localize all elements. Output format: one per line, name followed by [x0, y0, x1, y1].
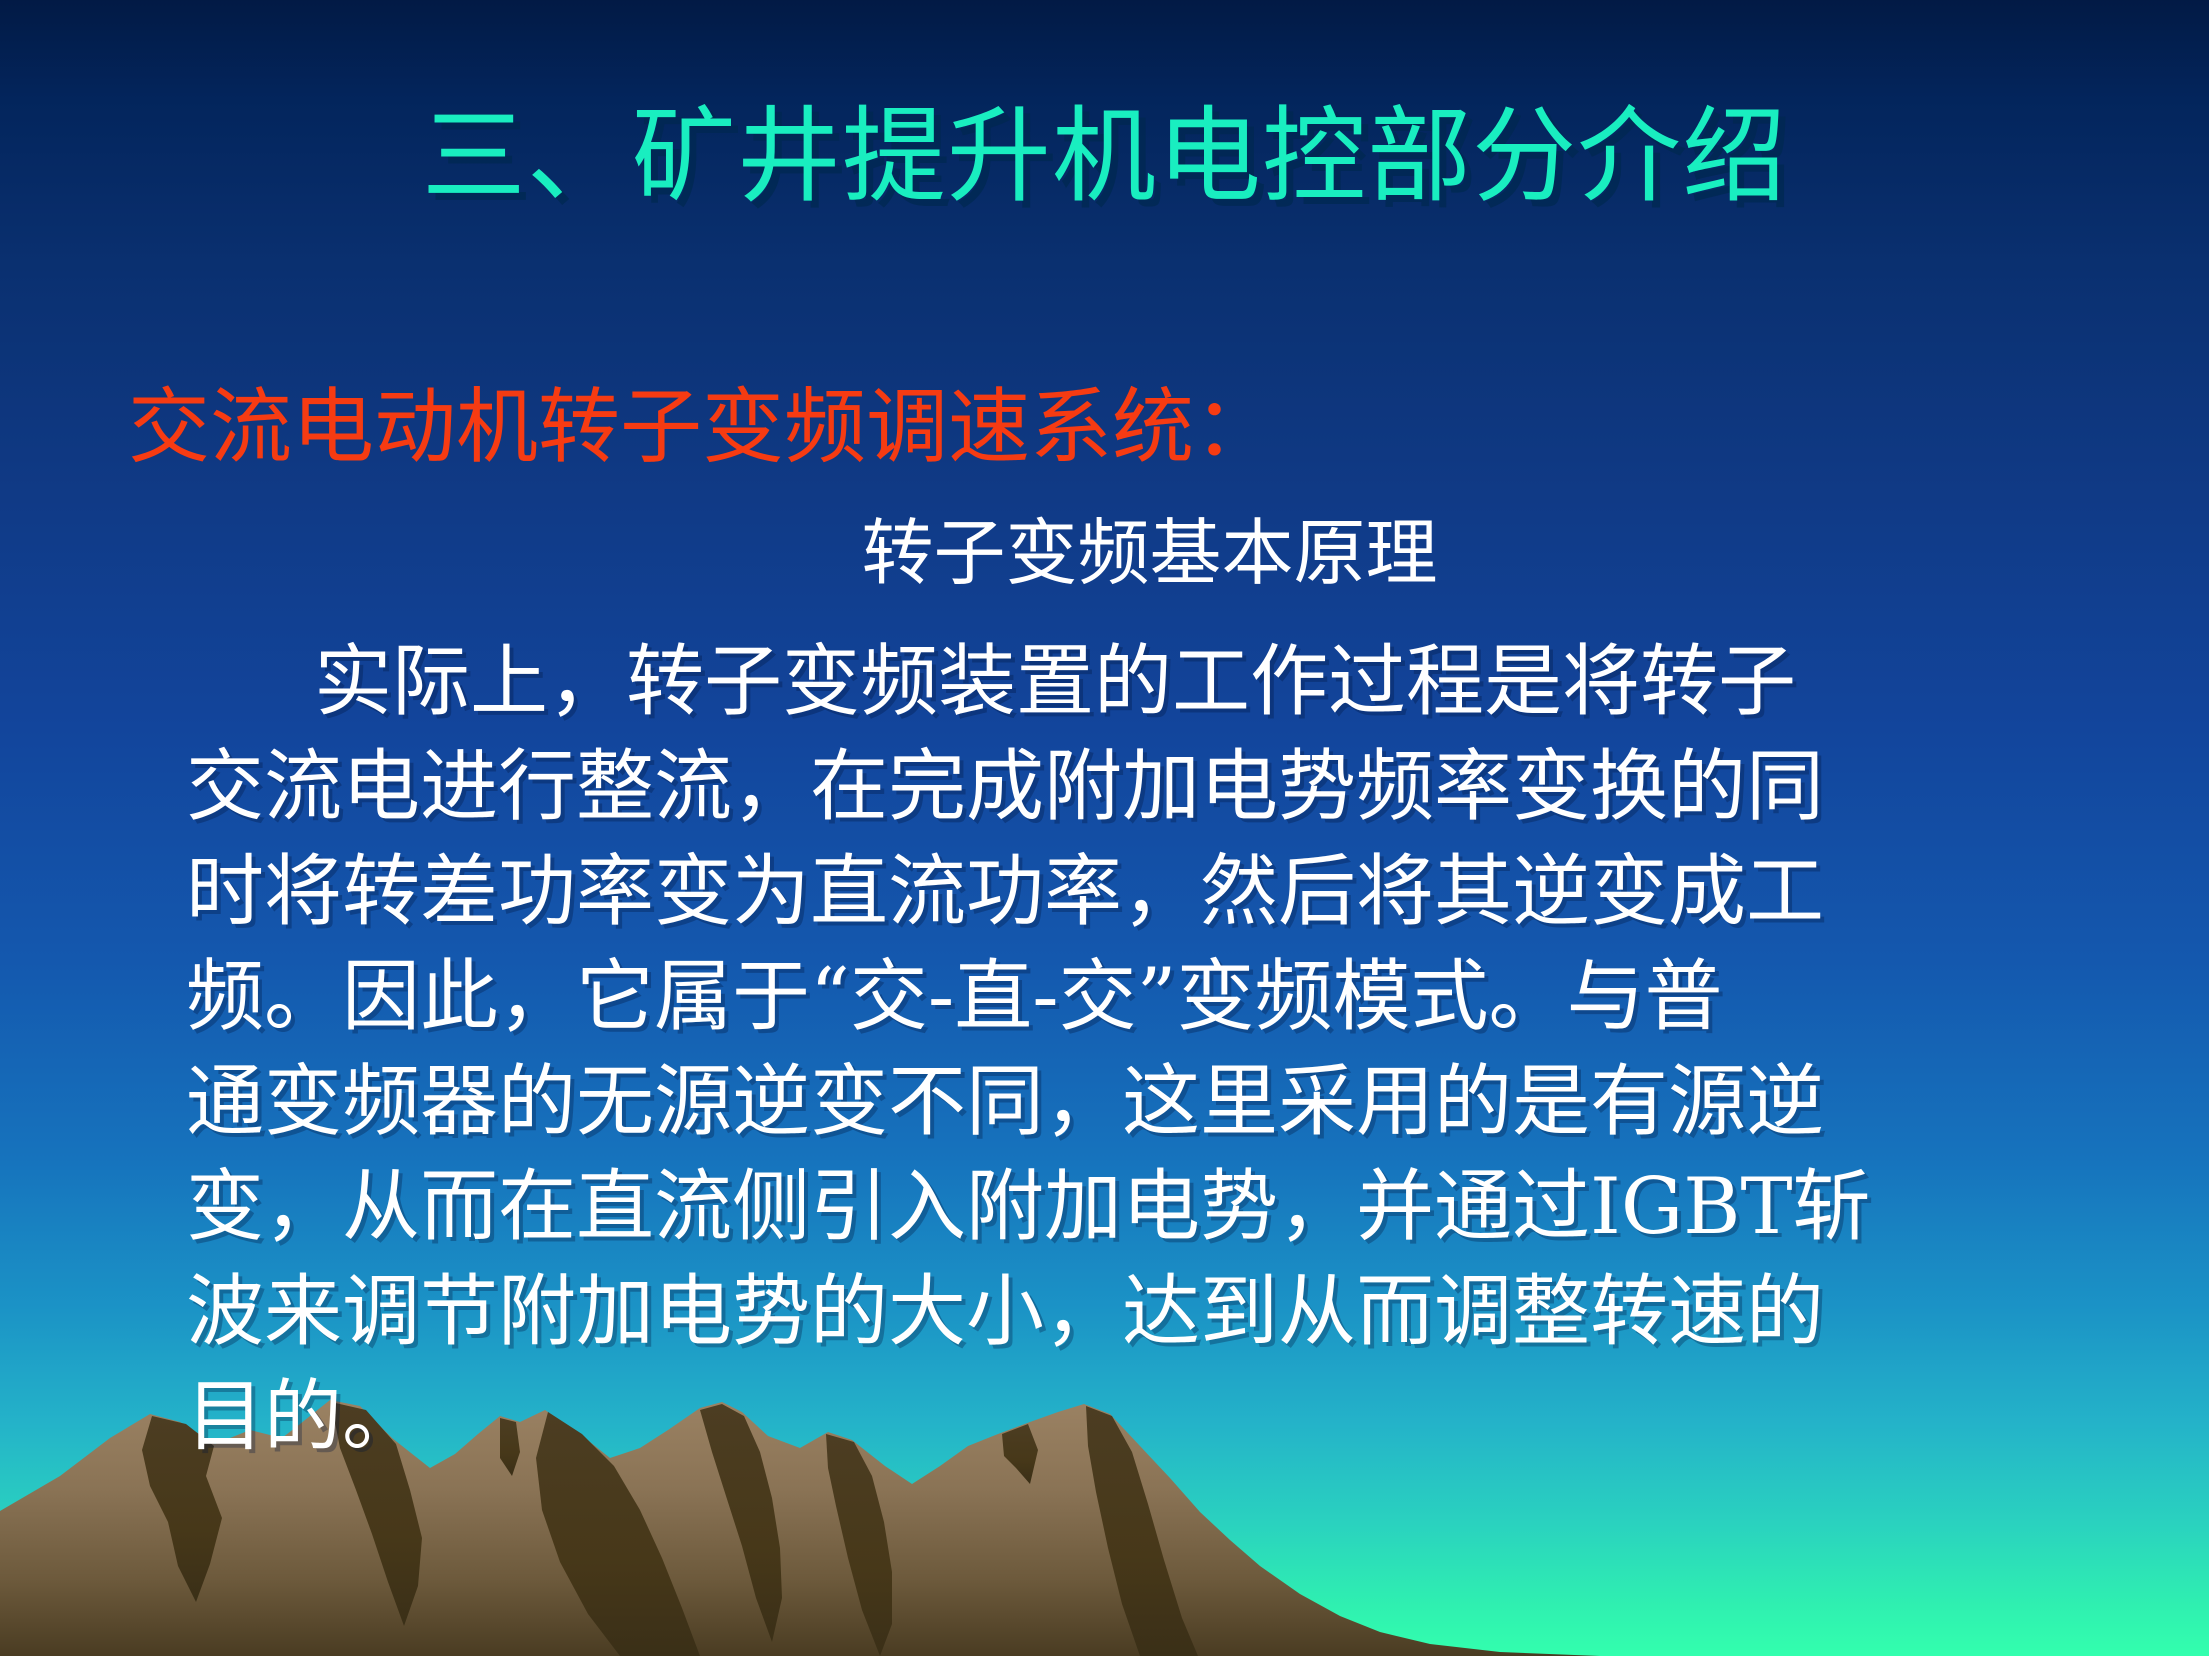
subsection-heading: 转子变频基本原理	[0, 512, 2209, 594]
body-line: 时将转差功率变为直流功率，然后将其逆变成工	[186, 840, 2116, 945]
body-line: 实际上，转子变频装置的工作过程是将转子	[186, 630, 2116, 735]
presentation-slide: 三、矿井提升机电控部分介绍 交流电动机转子变频调速系统： 转子变频基本原理 实际…	[0, 0, 2209, 1656]
body-line: 波来调节附加电势的大小，达到从而调整转速的	[186, 1260, 2116, 1365]
body-line: 频。因此，它属于“交-直-交”变频模式。与普	[186, 945, 2116, 1050]
body-text: 实际上，转子变频装置的工作过程是将转子 交流电进行整流，在完成附加电势频率变换的…	[186, 630, 2116, 1470]
section-heading: 交流电动机转子变频调速系统：	[128, 382, 1276, 474]
body-line: 交流电进行整流，在完成附加电势频率变换的同	[186, 735, 2116, 840]
body-line: 通变频器的无源逆变不同，这里采用的是有源逆	[186, 1050, 2116, 1155]
body-line: 目的。	[186, 1365, 2116, 1470]
body-line: 变，从而在直流侧引入附加电势，并通过IGBT斩	[186, 1155, 2116, 1260]
slide-title: 三、矿井提升机电控部分介绍	[0, 100, 2209, 212]
